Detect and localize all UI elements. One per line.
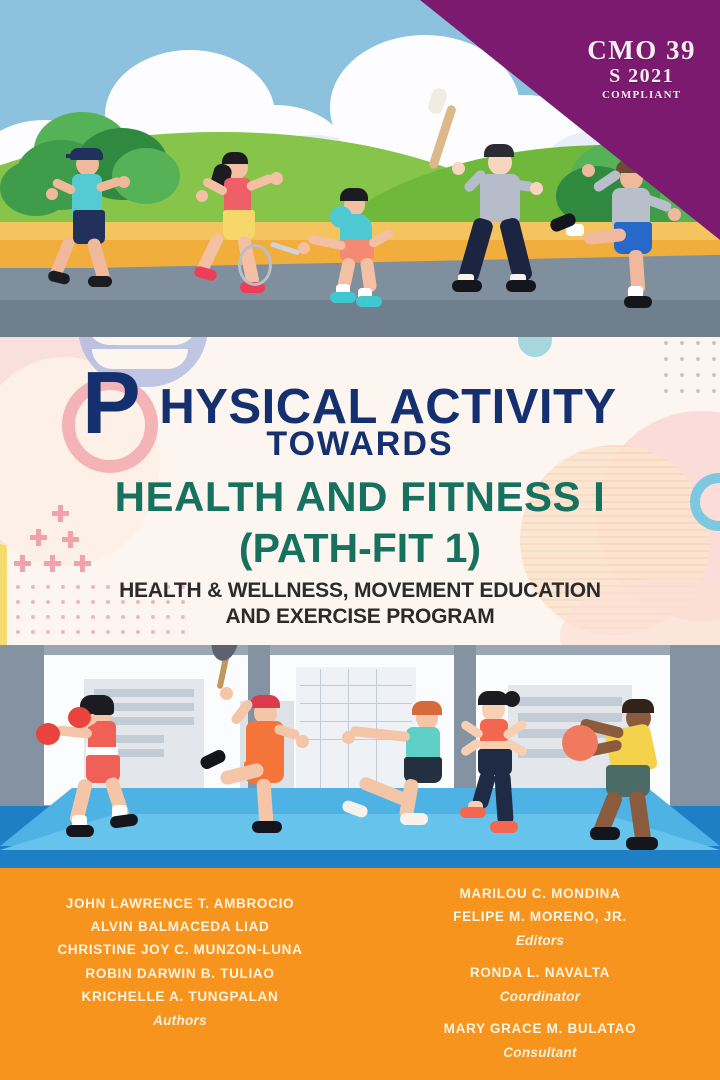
title-block: P HYSICAL ACTIVITY TOWARDS HEALTH AND FI… <box>0 337 720 645</box>
figure-boxer <box>52 693 182 838</box>
figure-female-runner <box>182 152 292 312</box>
top-illustration: CMO 39 S 2021 COMPLIANT <box>0 0 720 337</box>
author-name: ALVIN BALMACEDA LIAD <box>0 915 360 938</box>
author-name: CHRISTINE JOY C. MUNZON-LUNA <box>0 938 360 961</box>
figure-medicine-ball-thrower <box>570 691 710 856</box>
bottom-illustration <box>0 645 720 868</box>
author-name: JOHN LAWRENCE T. AMBROCIO <box>0 892 360 915</box>
credits-footer: JOHN LAWRENCE T. AMBROCIO ALVIN BALMACED… <box>0 868 720 1080</box>
authors-role-label: Authors <box>0 1008 360 1034</box>
title-line-3: HEALTH AND FITNESS I <box>0 473 720 521</box>
consultant-name: MARY GRACE M. BULATAO <box>360 1017 720 1040</box>
figure-badminton-player <box>206 675 346 840</box>
editors-group: MARILOU C. MONDINA FELIPE M. MORENO, JR.… <box>360 882 720 954</box>
title-subtitle: HEALTH & WELLNESS, MOVEMENT EDUCATION AN… <box>0 578 720 631</box>
authors-column: JOHN LAWRENCE T. AMBROCIO ALVIN BALMACED… <box>0 868 360 1080</box>
subtitle-line-1: HEALTH & WELLNESS, MOVEMENT EDUCATION <box>0 578 720 604</box>
figure-tennis-player <box>300 188 430 313</box>
consultant-role-label: Consultant <box>360 1040 720 1066</box>
coordinator-name: RONDA L. NAVALTA <box>360 961 720 984</box>
title-line-2: TOWARDS <box>0 425 720 464</box>
subtitle-line-2: AND EXERCISE PROGRAM <box>0 604 720 630</box>
editor-name: MARILOU C. MONDINA <box>360 882 720 905</box>
editor-name: FELIPE M. MORENO, JR. <box>360 905 720 928</box>
cmo-line-3: COMPLIANT <box>587 88 696 102</box>
title-line-1: HYSICAL ACTIVITY <box>0 337 720 432</box>
consultant-group: MARY GRACE M. BULATAO Consultant <box>360 1017 720 1066</box>
cmo-line-1: CMO 39 <box>587 36 696 64</box>
title-band: P HYSICAL ACTIVITY TOWARDS HEALTH AND FI… <box>0 337 720 645</box>
figure-standing-woman <box>438 683 558 843</box>
book-cover: CMO 39 S 2021 COMPLIANT <box>0 0 720 1080</box>
cmo-line-2: S 2021 <box>587 64 696 88</box>
title-line-4: (PATH-FIT 1) <box>0 525 720 572</box>
author-name: KRICHELLE A. TUNGPALAN <box>0 985 360 1008</box>
cmo-compliance-badge: CMO 39 S 2021 COMPLIANT <box>587 36 696 103</box>
staff-column: MARILOU C. MONDINA FELIPE M. MORENO, JR.… <box>360 868 720 1080</box>
coordinator-role-label: Coordinator <box>360 984 720 1010</box>
editors-role-label: Editors <box>360 928 720 954</box>
author-name: ROBIN DARWIN B. TULIAO <box>0 962 360 985</box>
figure-male-runner <box>30 148 140 308</box>
coordinator-group: RONDA L. NAVALTA Coordinator <box>360 961 720 1010</box>
